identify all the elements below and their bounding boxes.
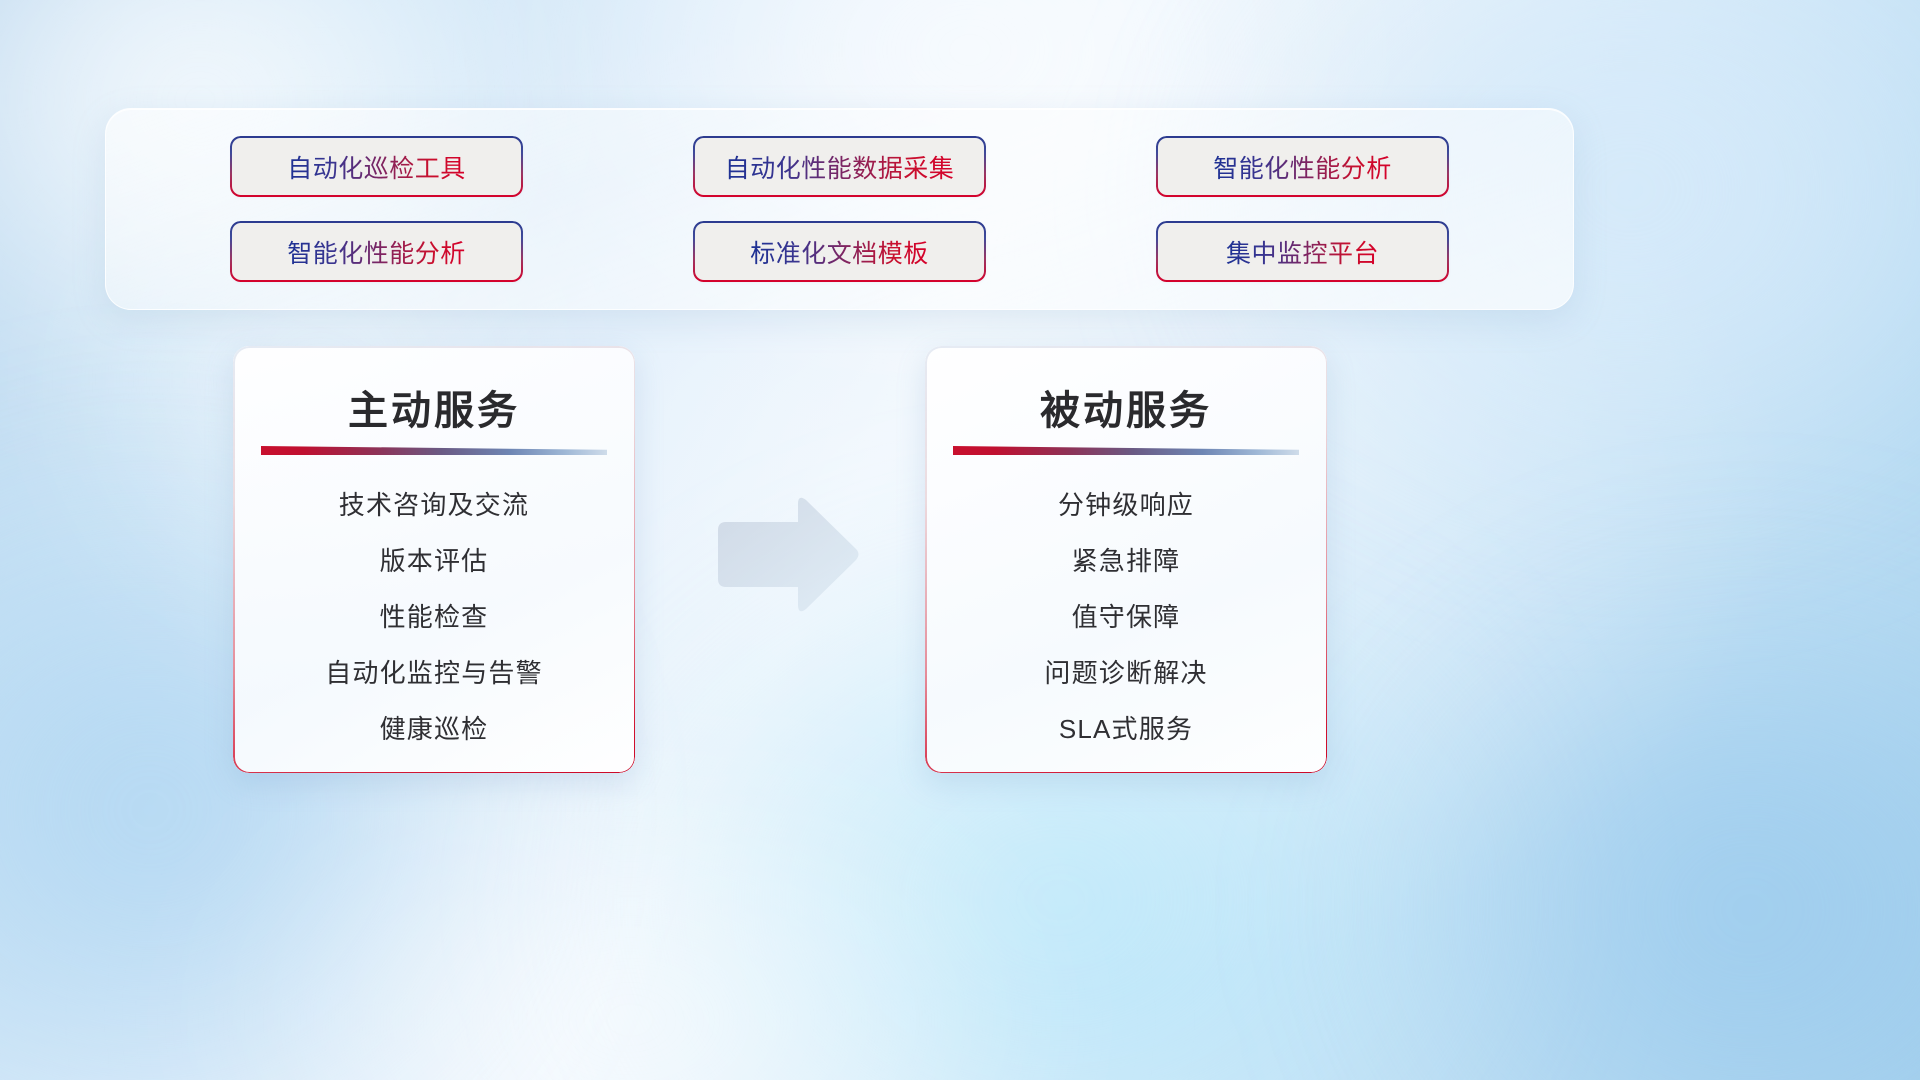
capability-tag-label: 智能化性能分析 xyxy=(287,234,466,270)
capability-tag[interactable]: 标准化文档模板 xyxy=(695,223,985,281)
service-item-list-ul: 分钟级响应 紧急排障 值守保障 问题诊断解决 SLA式服务 xyxy=(1044,485,1207,746)
list-item: 问题诊断解决 xyxy=(1044,653,1207,690)
capability-tag[interactable]: 智能化性能分析 xyxy=(232,223,522,281)
list-item: 分钟级响应 xyxy=(1058,485,1194,522)
capability-tag-grid: 自动化巡检工具 自动化性能数据采集 智能化性能分析 智能化性能分析 标准化文档模… xyxy=(106,109,1573,309)
capability-tag-label: 自动化性能数据采集 xyxy=(725,149,955,185)
service-item-list-ul: 技术咨询及交流 版本评估 性能检查 自动化监控与告警 健康巡检 xyxy=(325,485,543,746)
list-item: 性能检查 xyxy=(380,597,489,634)
service-card-passive: 被动服务 分钟级响应 紧急排障 值守保障 问题诊断解决 SLA式服务 xyxy=(925,346,1327,773)
service-card-title: 主动服务 xyxy=(233,378,635,436)
capability-tag-label: 自动化巡检工具 xyxy=(287,149,466,185)
list-item: 健康巡检 xyxy=(380,709,489,746)
capability-tag[interactable]: 集中监控平台 xyxy=(1158,223,1448,281)
arrow-right-icon xyxy=(712,492,862,617)
list-item: 版本评估 xyxy=(380,541,489,578)
capability-tag-label: 集中监控平台 xyxy=(1226,234,1379,270)
list-item: 紧急排障 xyxy=(1072,541,1181,578)
list-item: 值守保障 xyxy=(1072,597,1181,634)
capability-tag[interactable]: 自动化巡检工具 xyxy=(232,138,522,196)
title-underline-rule xyxy=(261,446,607,455)
capability-tag[interactable]: 自动化性能数据采集 xyxy=(695,138,985,196)
capabilities-panel: 自动化巡检工具 自动化性能数据采集 智能化性能分析 智能化性能分析 标准化文档模… xyxy=(105,108,1574,310)
service-card-active: 主动服务 技术咨询及交流 版本评估 性能检查 自动化监控与告警 健康巡检 xyxy=(233,346,635,773)
title-underline-rule xyxy=(953,446,1299,455)
capability-tag-label: 智能化性能分析 xyxy=(1213,149,1392,185)
capability-tag[interactable]: 智能化性能分析 xyxy=(1158,138,1448,196)
capability-tag-label: 标准化文档模板 xyxy=(750,234,929,270)
list-item: 自动化监控与告警 xyxy=(325,653,543,690)
list-item: SLA式服务 xyxy=(1059,709,1193,746)
service-item-list: 分钟级响应 紧急排障 值守保障 问题诊断解决 SLA式服务 xyxy=(925,474,1327,757)
service-item-list: 技术咨询及交流 版本评估 性能检查 自动化监控与告警 健康巡检 xyxy=(233,474,635,757)
list-item: 技术咨询及交流 xyxy=(339,485,529,522)
service-card-title: 被动服务 xyxy=(925,378,1327,436)
